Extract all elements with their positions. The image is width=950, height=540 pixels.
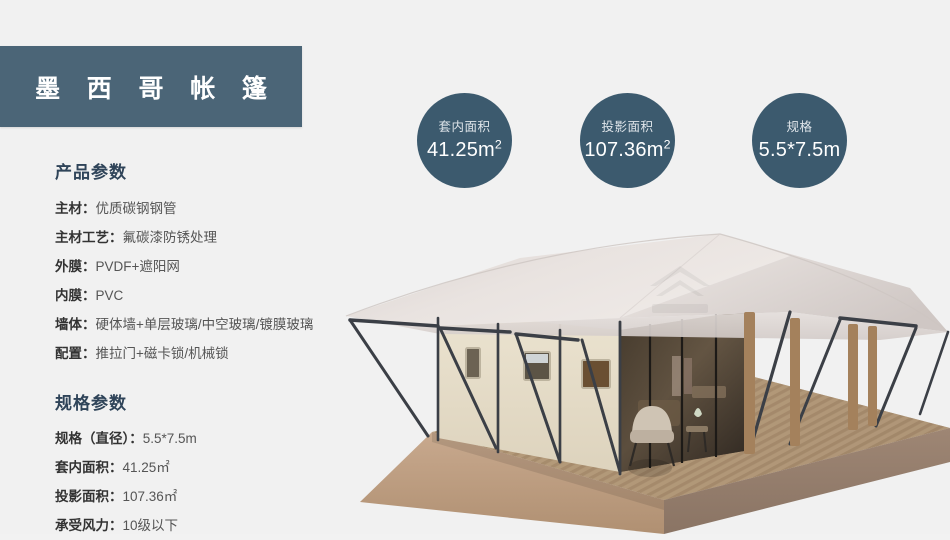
tent-canopy: [346, 234, 948, 340]
spec-label: 墙体：: [55, 317, 96, 332]
metric-badge-projected-area[interactable]: 投影面积 107.36m2: [580, 93, 675, 188]
spec-value: 优质碳钢钢管: [96, 201, 177, 216]
spec-value: 5.5*7.5m: [143, 431, 197, 446]
spec-label: 投影面积：: [55, 489, 123, 504]
badge-label: 套内面积: [438, 121, 490, 134]
page-title: 墨 西 哥 帐 篷: [26, 69, 276, 105]
spec-label: 套内面积：: [55, 460, 123, 475]
badge-label: 规格: [786, 121, 812, 134]
badge-value: 107.36m2: [584, 140, 670, 160]
spec-value: 107.36㎡: [123, 489, 178, 504]
badge-label: 投影面积: [601, 121, 653, 134]
spec-value: 10级以下: [123, 518, 179, 533]
spec-label: 承受风力：: [55, 518, 123, 533]
spec-value: 氟碳漆防锈处理: [123, 230, 218, 245]
spec-value: PVC: [96, 288, 124, 303]
spec-label: 主材工艺：: [55, 230, 123, 245]
badge-value: 41.25m2: [427, 140, 502, 160]
title-banner: 墨 西 哥 帐 篷: [0, 46, 302, 127]
spec-value: 推拉门+磁卡锁/机械锁: [96, 346, 229, 361]
spec-label: 配置：: [55, 346, 96, 361]
spec-value: 41.25㎡: [123, 460, 170, 475]
spec-value: PVDF+遮阳网: [96, 259, 180, 274]
badge-value: 5.5*7.5m: [759, 140, 841, 160]
metric-badge-dimensions[interactable]: 规格 5.5*7.5m: [752, 93, 847, 188]
metric-badge-interior-area[interactable]: 套内面积 41.25m2: [417, 93, 512, 188]
tent-render-image: [320, 200, 950, 534]
spec-label: 外膜：: [55, 259, 96, 274]
product-section-heading: 产品参数: [55, 164, 385, 183]
spec-value: 硬体墙+单层玻璃/中空玻璃/镀膜玻璃: [96, 317, 314, 332]
page-root: 墨 西 哥 帐 篷 产品参数 主材：优质碳钢钢管 主材工艺：氟碳漆防锈处理 外膜…: [0, 0, 950, 534]
spec-label: 规格（直径）：: [55, 431, 143, 446]
spec-label: 内膜：: [55, 288, 96, 303]
spec-label: 主材：: [55, 201, 96, 216]
